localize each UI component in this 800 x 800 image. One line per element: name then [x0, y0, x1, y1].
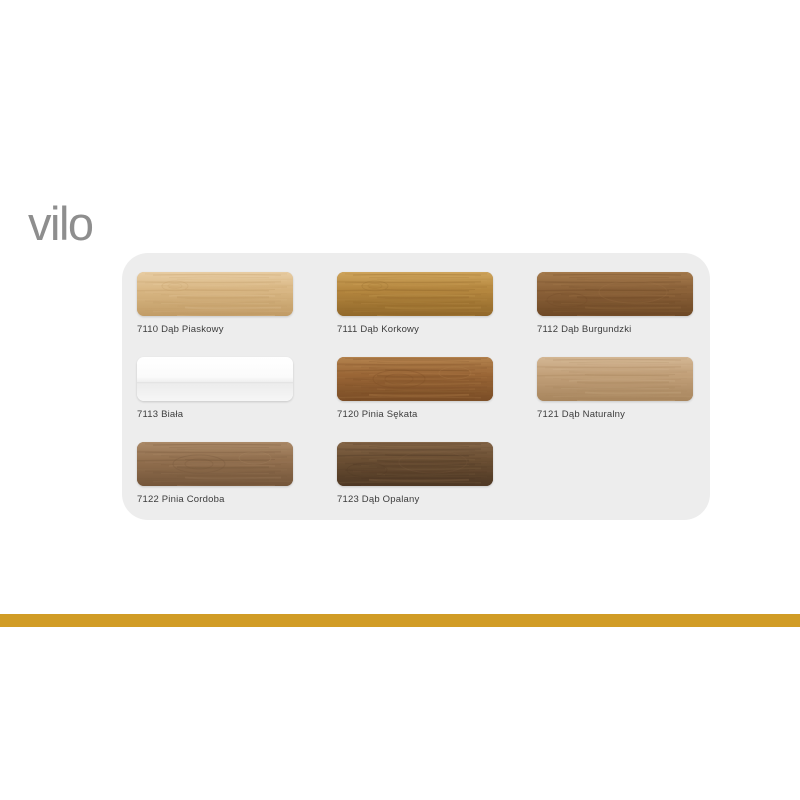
swatch-cell-7113[interactable]: 7113 Biała: [137, 357, 293, 420]
swatch-cell-7120[interactable]: 7120 Pinia Sękata: [337, 357, 493, 420]
brand-logo: vilo: [28, 196, 148, 252]
accent-bar: [0, 614, 800, 627]
swatch-cell-7110[interactable]: 7110 Dąb Piaskowy: [137, 272, 293, 335]
swatch-cell-7122[interactable]: 7122 Pinia Cordoba: [137, 442, 293, 505]
swatch-chip-7122[interactable]: [137, 442, 293, 486]
brand-logo-text: vilo: [28, 196, 148, 252]
swatch-chip-7113[interactable]: [137, 357, 293, 401]
decor-panel: 7110 Dąb Piaskowy7111 Dąb Korkowy7112 Dą…: [122, 253, 710, 520]
swatch-grid: 7110 Dąb Piaskowy7111 Dąb Korkowy7112 Dą…: [122, 253, 710, 520]
swatch-label-7112: 7112 Dąb Burgundzki: [537, 324, 693, 335]
swatch-chip-7112[interactable]: [537, 272, 693, 316]
swatch-label-7111: 7111 Dąb Korkowy: [337, 324, 493, 335]
swatch-cell-7112[interactable]: 7112 Dąb Burgundzki: [537, 272, 693, 335]
swatch-label-7120: 7120 Pinia Sękata: [337, 409, 493, 420]
swatch-cell-7123[interactable]: 7123 Dąb Opalany: [337, 442, 493, 505]
swatch-chip-7121[interactable]: [537, 357, 693, 401]
swatch-chip-7110[interactable]: [137, 272, 293, 316]
swatch-chip-7111[interactable]: [337, 272, 493, 316]
swatch-label-7121: 7121 Dąb Naturalny: [537, 409, 693, 420]
swatch-label-7122: 7122 Pinia Cordoba: [137, 494, 293, 505]
swatch-chip-7120[interactable]: [337, 357, 493, 401]
swatch-cell-7121[interactable]: 7121 Dąb Naturalny: [537, 357, 693, 420]
swatch-chip-7123[interactable]: [337, 442, 493, 486]
swatch-label-7110: 7110 Dąb Piaskowy: [137, 324, 293, 335]
swatch-label-7113: 7113 Biała: [137, 409, 293, 420]
swatch-cell-7111[interactable]: 7111 Dąb Korkowy: [337, 272, 493, 335]
swatch-label-7123: 7123 Dąb Opalany: [337, 494, 493, 505]
